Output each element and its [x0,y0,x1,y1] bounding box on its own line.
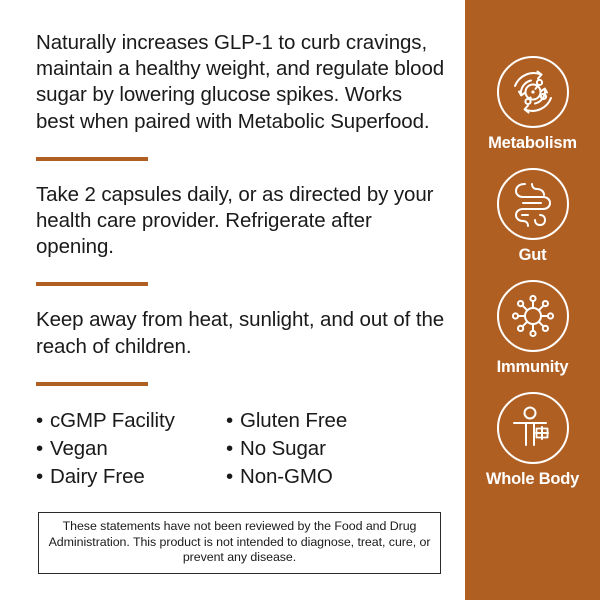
bullet-marker-icon: • [36,463,50,491]
benefit-item-metabolism: Metabolism [465,56,600,153]
spacer [36,386,445,407]
benefit-item-immunity: Immunity [465,280,600,377]
list-item: •Non-GMO [226,463,347,491]
bullet-marker-icon: • [226,435,240,463]
list-item: •Gluten Free [226,407,347,435]
list-item-label: Vegan [50,437,108,460]
spacer [36,260,445,282]
list-item: •cGMP Facility [36,407,226,435]
bullet-marker-icon: • [226,407,240,435]
storage-paragraph: Keep away from heat, sunlight, and out o… [36,307,445,359]
fda-disclaimer-box: These statements have not been reviewed … [38,512,441,574]
spacer [36,135,445,157]
benefit-icon-frame [497,392,569,464]
metabolism-icon [507,66,559,118]
benefit-label-metabolism: Metabolism [488,134,577,153]
certification-bullet-list: •cGMP Facility •Vegan •Dairy Free •Glute… [36,407,445,491]
spacer [36,286,445,307]
benefit-label-gut: Gut [519,246,547,265]
benefit-paragraph: Naturally increases GLP-1 to curb cravin… [36,30,445,135]
benefit-icon-frame [497,168,569,240]
benefit-icon-frame [497,280,569,352]
label-content-column: Naturally increases GLP-1 to curb cravin… [0,0,465,600]
benefit-item-whole-body: Whole Body [465,392,600,489]
list-item: •No Sugar [226,435,347,463]
supplement-label-panel: Naturally increases GLP-1 to curb cravin… [0,0,600,600]
bullet-column-one: •cGMP Facility •Vegan •Dairy Free [36,407,226,491]
benefit-item-gut: Gut [465,168,600,265]
bullet-marker-icon: • [36,435,50,463]
benefit-label-whole-body: Whole Body [486,470,579,489]
directions-paragraph: Take 2 capsules daily, or as directed by… [36,182,445,261]
list-item-label: cGMP Facility [50,409,175,432]
benefit-icon-frame [497,56,569,128]
benefits-sidebar: Metabolism Gut [465,0,600,600]
whole-body-icon [508,403,558,453]
list-item-label: Dairy Free [50,465,145,488]
list-item: •Dairy Free [36,463,226,491]
list-item-label: Non-GMO [240,465,333,488]
bullet-marker-icon: • [36,407,50,435]
immunity-icon [508,291,558,341]
gut-icon [510,179,556,229]
benefit-label-immunity: Immunity [497,358,569,377]
fda-disclaimer-text: These statements have not been reviewed … [47,519,432,566]
spacer [36,360,445,382]
list-item: •Vegan [36,435,226,463]
bullet-marker-icon: • [226,463,240,491]
spacer [36,161,445,182]
list-item-label: Gluten Free [240,409,347,432]
bullet-column-two: •Gluten Free •No Sugar •Non-GMO [226,407,347,491]
list-item-label: No Sugar [240,437,326,460]
